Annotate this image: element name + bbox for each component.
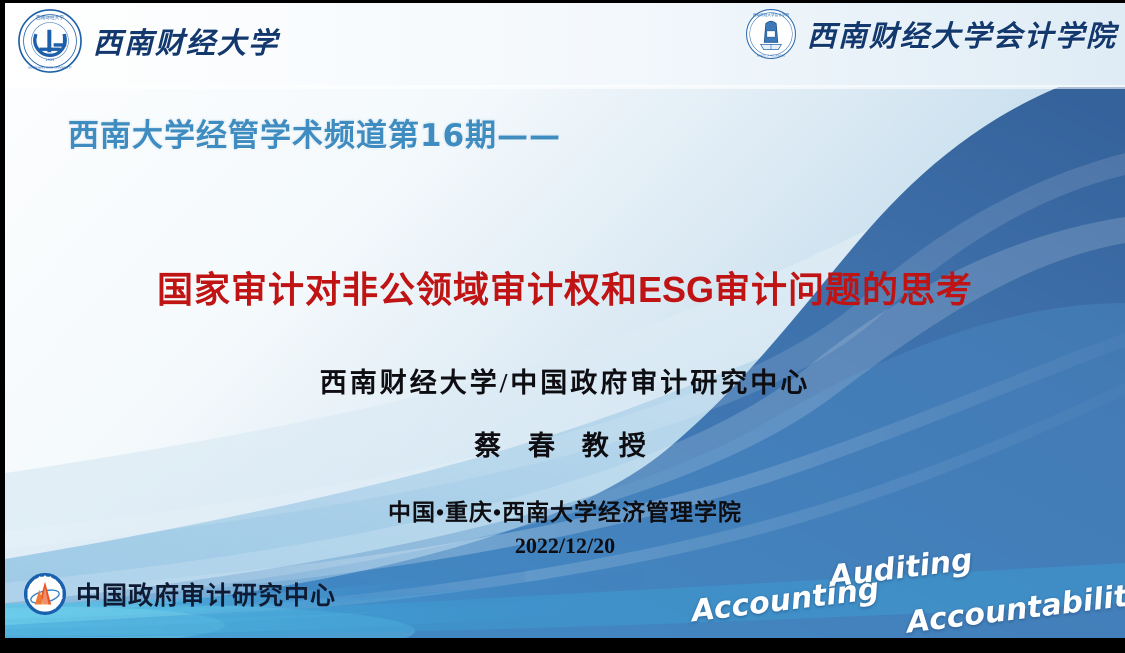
logo-row: 西南财经大学 SOUTHWESTERN UNIVERSITY 1925 西南财经… (5, 3, 1125, 87)
svg-text:SCHOOL OF ACCOUNTING: SCHOOL OF ACCOUNTING (757, 54, 785, 57)
page-title-part1: 国家审计对非公领域审计权和 (157, 270, 638, 310)
university-logo-left-label: 西南财经大学 (93, 20, 279, 62)
frame-left-edge (0, 0, 5, 653)
frame-top-edge (0, 0, 1125, 3)
university-logo-left: 西南财经大学 SOUTHWESTERN UNIVERSITY 1925 西南财经… (17, 8, 279, 74)
frame-bottom-edge (0, 638, 1125, 653)
university-logo-right: 西南财经大学会计学院 SCHOOL OF ACCOUNTING 西南财经大学会计… (745, 8, 1117, 60)
presenter-name: 蔡 春 教授 (5, 424, 1125, 463)
research-center-logo-label: 中国政府审计研究中心 (76, 576, 336, 612)
page-title: 国家审计对非公领域审计权和ESG审计问题的思考 (5, 261, 1125, 313)
byline-block: 西南财经大学/中国政府审计研究中心 蔡 春 教授 中国•重庆•西南大学经济管理学… (5, 361, 1125, 559)
page-title-esg: ESG (638, 269, 714, 310)
swufe-accounting-school-seal-icon: 西南财经大学会计学院 SCHOOL OF ACCOUNTING (745, 8, 797, 60)
svg-text:1925: 1925 (46, 58, 54, 62)
research-center-logo: 中国政府审计研究中心 (23, 572, 336, 616)
channel-heading: 西南大学经管学术频道第16期—— (68, 110, 561, 155)
affiliation-text: 西南财经大学/中国政府审计研究中心 (5, 361, 1125, 400)
presentation-slide: 西南财经大学 SOUTHWESTERN UNIVERSITY 1925 西南财经… (0, 0, 1125, 653)
svg-text:西南财经大学会计学院: 西南财经大学会计学院 (753, 12, 790, 17)
swufe-seal-icon: 西南财经大学 SOUTHWESTERN UNIVERSITY 1925 (17, 8, 83, 74)
page-title-part2: 审计问题的思考 (714, 270, 973, 310)
cgarc-seal-icon (23, 572, 67, 616)
university-logo-right-label: 西南财经大学会计学院 (807, 13, 1117, 55)
slide-canvas: 西南财经大学 SOUTHWESTERN UNIVERSITY 1925 西南财经… (5, 3, 1125, 638)
venue-text: 中国•重庆•西南大学经济管理学院 (5, 493, 1125, 527)
svg-text:SOUTHWESTERN UNIVERSITY: SOUTHWESTERN UNIVERSITY (28, 66, 72, 70)
